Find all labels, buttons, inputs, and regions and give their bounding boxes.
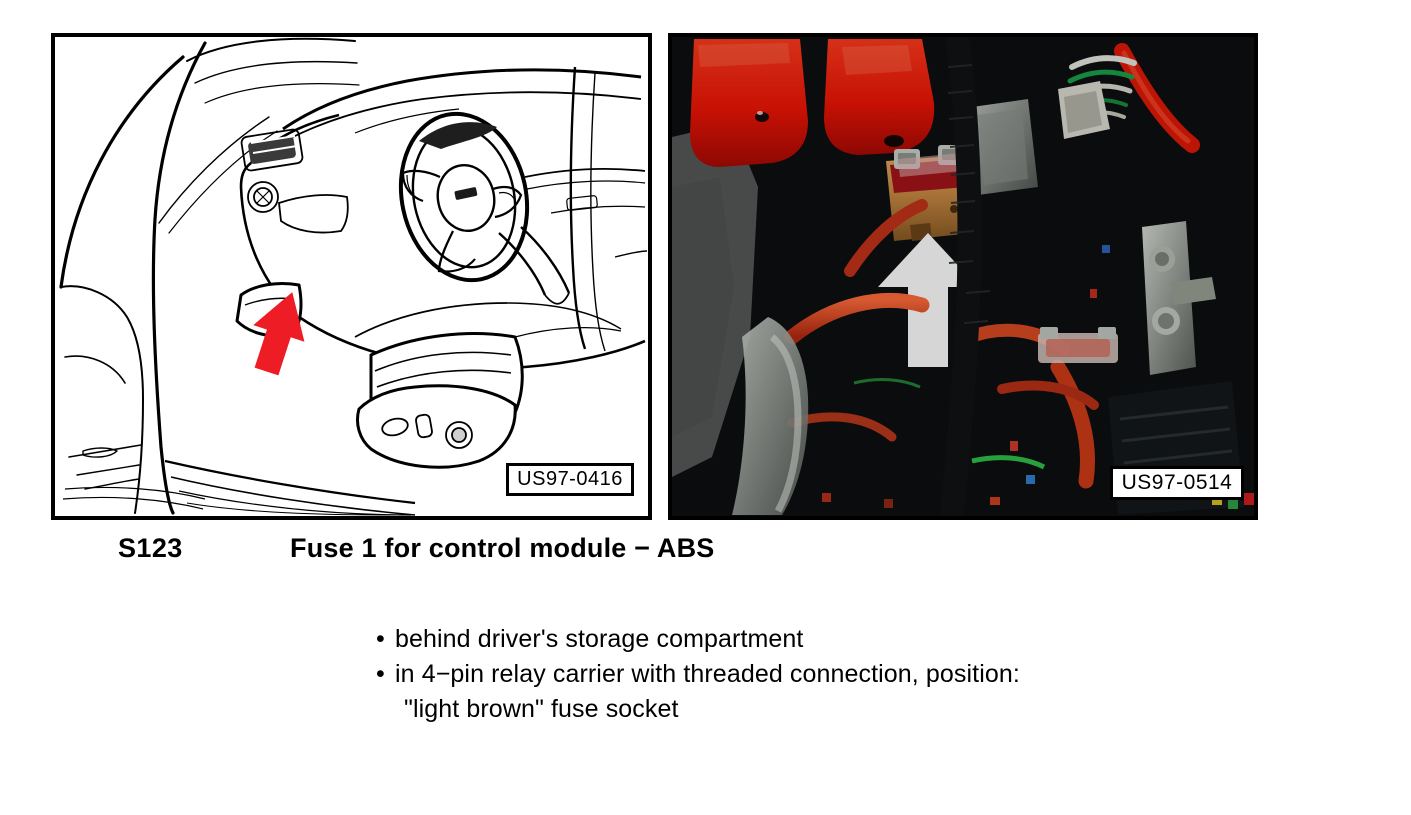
bullet-glyph-2: • (376, 657, 385, 692)
component-code: S123 (118, 533, 183, 564)
caption-row: S123 Fuse 1 for control module − ABS (0, 533, 1411, 571)
note-item-2: • in 4−pin relay carrier with threaded c… (374, 657, 1274, 727)
notes-list: • behind driver's storage compartment • … (374, 622, 1274, 727)
note-item-1: • behind driver's storage compartment (374, 622, 1274, 657)
image-id-plate-left: US97-0416 (506, 463, 634, 496)
engine-bay-photograph (672, 37, 1254, 516)
component-title: Fuse 1 for control module − ABS (290, 533, 715, 564)
bullet-glyph-1: • (376, 622, 385, 657)
image-id-plate-right: US97-0514 (1110, 466, 1244, 500)
note-text-2: in 4−pin relay carrier with threaded con… (395, 660, 1020, 688)
vehicle-line-drawing-panel: US97-0416 (51, 33, 652, 520)
photo-canvas (672, 37, 1254, 516)
car-interior-line-art (55, 37, 648, 516)
fuse-location-photo-panel: US97-0514 (668, 33, 1258, 520)
line-drawing-canvas (55, 37, 648, 516)
note-text-2-continued: "light brown" fuse socket (395, 692, 1274, 727)
note-text-1: behind driver's storage compartment (395, 625, 803, 653)
